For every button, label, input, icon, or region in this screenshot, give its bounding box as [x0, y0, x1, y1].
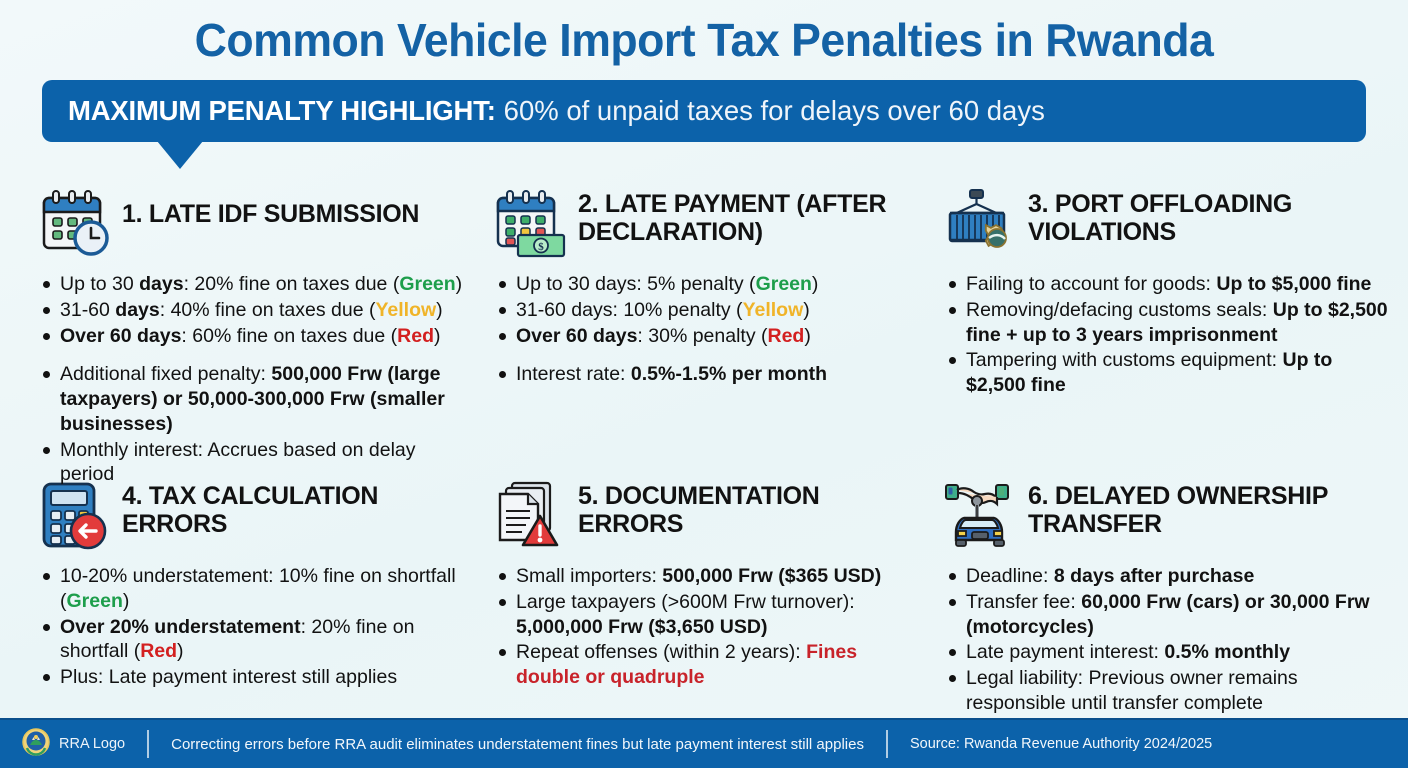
- bullet-text: : 40% fine on taxes due (: [160, 299, 376, 321]
- banner-detail-label: 60% of unpaid taxes for delays over 60 d…: [504, 95, 1045, 127]
- panel-title: 2. LATE PAYMENT (AFTER DECLARATION): [578, 188, 918, 246]
- bullet-text: Repeat offenses (within 2 years):: [516, 641, 806, 663]
- bullet-text: Yellow: [375, 299, 436, 321]
- panel-title: 1. LATE IDF SUBMISSION: [122, 188, 419, 228]
- bullet-item: Deadline: 8 days after purchase: [944, 564, 1394, 589]
- bullet-text: Green: [67, 590, 123, 612]
- bullet-item: 10-20% understatement: 10% fine on short…: [38, 564, 466, 614]
- footer-bar: RRA Logo Correcting errors before RRA au…: [0, 718, 1408, 768]
- bullet-item: Monthly interest: Accrues based on delay…: [38, 438, 466, 488]
- bullet-text: Failing to account for goods:: [966, 273, 1216, 295]
- bullet-text: days: [139, 273, 183, 295]
- panel-header: $ 2. LATE PAYMENT (AFTER DECLARATION): [494, 188, 918, 260]
- bullet-item: Plus: Late payment interest still applie…: [38, 665, 466, 690]
- rra-logo-icon: [22, 728, 50, 761]
- bullet-text: Up to 30: [60, 273, 139, 295]
- bullet-text: Red: [397, 325, 434, 347]
- bullet-item: Large taxpayers (>600M Frw turnover): 5,…: [494, 590, 918, 640]
- bullet-text: ): [456, 273, 463, 295]
- panel-title: 6. DELAYED OWNERSHIP TRANSFER: [1028, 480, 1394, 538]
- rra-logo-label: RRA Logo: [59, 736, 125, 752]
- panel-late-payment: $ 2. LATE PAYMENT (AFTER DECLARATION) Up…: [484, 182, 936, 474]
- bullet-text: 0.5% monthly: [1164, 641, 1290, 663]
- bullet-item: Transfer fee: 60,000 Frw (cars) or 30,00…: [944, 590, 1394, 640]
- panel-bullet-list: Up to 30 days: 5% penalty (Green)31-60 d…: [494, 272, 918, 387]
- bullet-item: Over 60 days: 30% penalty (Red): [494, 324, 918, 349]
- bullet-item: Small importers: 500,000 Frw ($365 USD): [494, 564, 918, 589]
- panel-header: 4. TAX CALCULATION ERRORS: [38, 480, 466, 552]
- panel-port-offloading: 3. PORT OFFLOADING VIOLATIONS Failing to…: [936, 182, 1408, 474]
- bullet-text: Additional fixed penalty:: [60, 363, 271, 385]
- bullet-text: Late payment interest:: [966, 641, 1164, 663]
- footer-source: Source: Rwanda Revenue Authority 2024/20…: [910, 736, 1212, 752]
- panel-header: 5. DOCUMENTATION ERRORS: [494, 480, 918, 552]
- bullet-item: 31-60 days: 40% fine on taxes due (Yello…: [38, 298, 466, 323]
- footer-divider-2: [886, 730, 888, 758]
- bullet-text: 0.5%-1.5% per month: [631, 363, 827, 385]
- bullet-text: Legal liability: Previous owner remains …: [966, 667, 1298, 714]
- bullet-text: 5,000,000 Frw ($3,650 USD): [516, 616, 767, 638]
- bullet-item: Tampering with customs equipment: Up to …: [944, 348, 1394, 398]
- banner-pointer: [157, 141, 203, 169]
- bullet-text: ): [803, 299, 810, 321]
- bullet-text: ): [436, 299, 443, 321]
- bullet-text: ): [123, 590, 130, 612]
- maximum-penalty-banner: MAXIMUM PENALTY HIGHLIGHT: 60% of unpaid…: [42, 80, 1366, 142]
- footer-divider-1: [147, 730, 149, 758]
- bullet-item: Failing to account for goods: Up to $5,0…: [944, 272, 1394, 297]
- banner-lead-label: MAXIMUM PENALTY HIGHLIGHT:: [68, 95, 496, 127]
- bullet-text: Small importers:: [516, 565, 662, 587]
- panel-bullet-list: 10-20% understatement: 10% fine on short…: [38, 564, 466, 690]
- bullet-text: Tampering with customs equipment:: [966, 349, 1282, 371]
- bullet-text: Over 20% understatement: [60, 616, 301, 638]
- bullet-text: Transfer fee:: [966, 591, 1081, 613]
- bullet-item: Removing/defacing customs seals: Up to $…: [944, 298, 1394, 348]
- bullet-text: Red: [768, 325, 805, 347]
- page-title: Common Vehicle Import Tax Penalties in R…: [21, 0, 1387, 66]
- bullet-text: : 30% penalty (: [637, 325, 767, 347]
- bullet-text: Monthly interest: Accrues based on delay…: [60, 439, 416, 486]
- svg-text:$: $: [538, 241, 544, 253]
- calculator-error-icon: [38, 480, 112, 552]
- bullet-text: Yellow: [743, 299, 804, 321]
- bullet-item: Interest rate: 0.5%-1.5% per month: [494, 362, 918, 387]
- bullet-text: Plus: Late payment interest still applie…: [60, 666, 397, 688]
- panel-header: 6. DELAYED OWNERSHIP TRANSFER: [944, 480, 1394, 552]
- panel-late-idf-submission: 1. LATE IDF SUBMISSION Up to 30 days: 20…: [4, 182, 484, 474]
- bullet-item: Additional fixed penalty: 500,000 Frw (l…: [38, 362, 466, 436]
- bullet-text: ): [177, 640, 184, 662]
- panel-tax-calculation-errors: 4. TAX CALCULATION ERRORS 10-20% underst…: [4, 474, 484, 718]
- car-key-handover-icon: [944, 480, 1018, 552]
- panel-delayed-ownership-transfer: 6. DELAYED OWNERSHIP TRANSFER Deadline: …: [936, 474, 1408, 718]
- bullet-text: 8 days after purchase: [1054, 565, 1255, 587]
- bullet-item: Over 60 days: 60% fine on taxes due (Red…: [38, 324, 466, 349]
- panel-bullet-list: Deadline: 8 days after purchaseTransfer …: [944, 564, 1394, 716]
- bullet-item: 31-60 days: 10% penalty (Yellow): [494, 298, 918, 323]
- penalty-grid: 1. LATE IDF SUBMISSION Up to 30 days: 20…: [0, 182, 1408, 718]
- bullet-item: Late payment interest: 0.5% monthly: [944, 640, 1394, 665]
- bullet-text: : 20% fine on taxes due (: [184, 273, 400, 295]
- bullet-text: Up to $5,000 fine: [1216, 273, 1371, 295]
- bullet-text: Removing/defacing customs seals:: [966, 299, 1273, 321]
- bullet-text: Deadline:: [966, 565, 1054, 587]
- calendar-money-icon: $: [494, 188, 568, 260]
- calendar-clock-icon: [38, 188, 112, 260]
- infographic-page: Common Vehicle Import Tax Penalties in R…: [0, 0, 1408, 768]
- bullet-item: Up to 30 days: 5% penalty (Green): [494, 272, 918, 297]
- bullet-text: ): [812, 273, 819, 295]
- bullet-text: ): [804, 325, 811, 347]
- bullet-text: Red: [140, 640, 177, 662]
- bullet-item: Repeat offenses (within 2 years): Fines …: [494, 640, 918, 690]
- bullet-item: Legal liability: Previous owner remains …: [944, 666, 1394, 716]
- panel-title: 5. DOCUMENTATION ERRORS: [578, 480, 918, 538]
- bullet-text: 500,000 Frw ($365 USD): [662, 565, 881, 587]
- panel-bullet-list: Small importers: 500,000 Frw ($365 USD)L…: [494, 564, 918, 690]
- panel-bullet-list: Up to 30 days: 20% fine on taxes due (Gr…: [38, 272, 466, 487]
- bullet-text: Over 60 days: [516, 325, 637, 347]
- bullet-item: Up to 30 days: 20% fine on taxes due (Gr…: [38, 272, 466, 297]
- rra-logo-group: RRA Logo: [0, 728, 125, 761]
- bullet-text: 31-60 days: 10% penalty (: [516, 299, 743, 321]
- bullet-text: ): [434, 325, 441, 347]
- bullet-text: Green: [756, 273, 812, 295]
- panel-header: 3. PORT OFFLOADING VIOLATIONS: [944, 188, 1394, 260]
- panel-documentation-errors: 5. DOCUMENTATION ERRORS Small importers:…: [484, 474, 936, 718]
- panel-header: 1. LATE IDF SUBMISSION: [38, 188, 466, 260]
- bullet-text: Large taxpayers (>600M Frw turnover):: [516, 591, 855, 613]
- bullet-text: Up to 30 days: 5% penalty (: [516, 273, 756, 295]
- bullet-item: Over 20% understatement: 20% fine on sho…: [38, 615, 466, 665]
- shipping-container-seal-icon: [944, 188, 1018, 260]
- panel-bullet-list: Failing to account for goods: Up to $5,0…: [944, 272, 1394, 398]
- bullet-text: Green: [399, 273, 455, 295]
- documents-warning-icon: [494, 480, 568, 552]
- footer-note: Correcting errors before RRA audit elimi…: [171, 736, 864, 753]
- bullet-text: Over 60 days: [60, 325, 181, 347]
- bullet-text: : 60% fine on taxes due (: [181, 325, 397, 347]
- bullet-text: 31-60: [60, 299, 115, 321]
- panel-title: 3. PORT OFFLOADING VIOLATIONS: [1028, 188, 1394, 246]
- bullet-text: Interest rate:: [516, 363, 631, 385]
- bullet-text: days: [115, 299, 159, 321]
- panel-title: 4. TAX CALCULATION ERRORS: [122, 480, 466, 538]
